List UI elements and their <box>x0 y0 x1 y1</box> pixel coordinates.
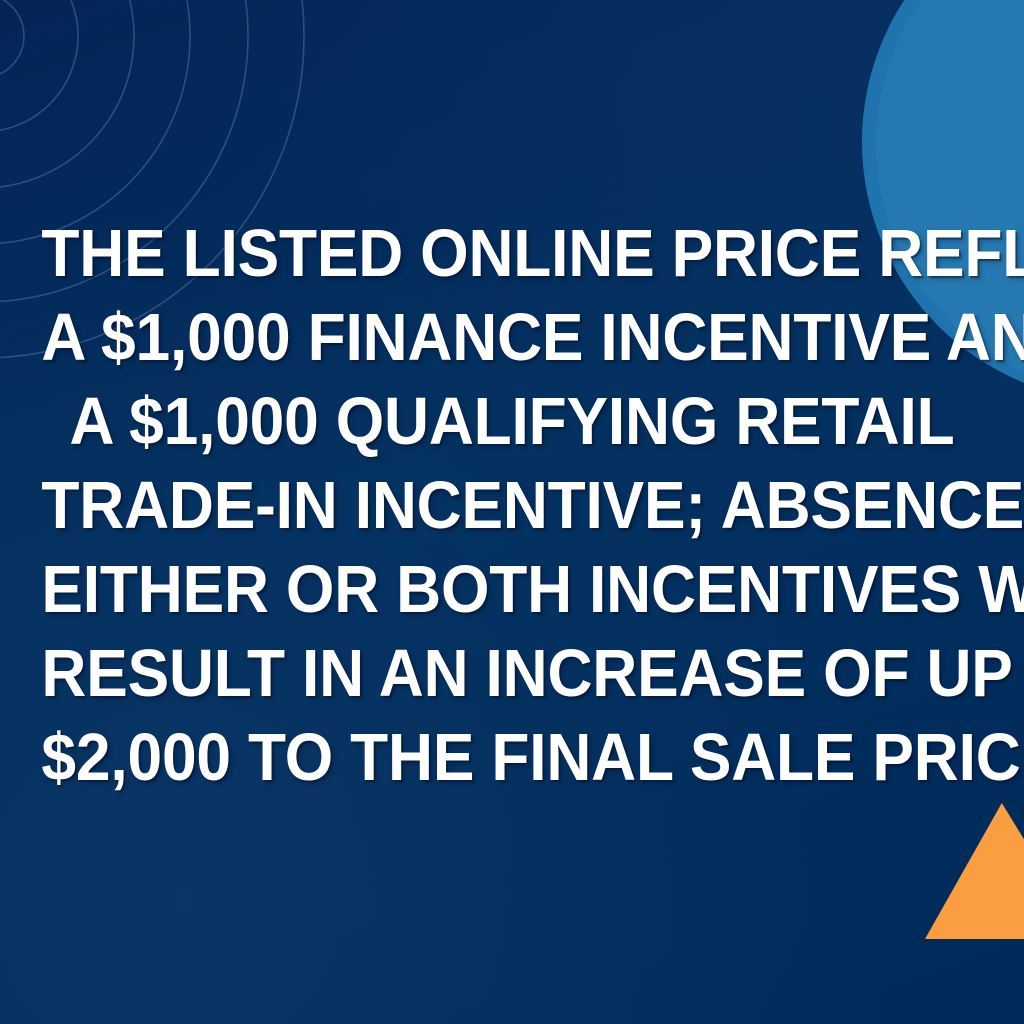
disclaimer-graphic: THE LISTED ONLINE PRICE REFLECTS A $1,00… <box>0 0 1024 1024</box>
headline-line-4: TRADE-IN INCENTIVE; ABSENCE OF <box>41 464 982 548</box>
headline-line-6: RESULT IN AN INCREASE OF UP TO <box>41 632 982 716</box>
headline-line-1: THE LISTED ONLINE PRICE REFLECTS <box>41 212 982 296</box>
headline-line-2: A $1,000 FINANCE INCENTIVE AND <box>41 296 982 380</box>
headline-line-3: A $1,000 QUALIFYING RETAIL <box>41 380 982 464</box>
disclaimer-text-block: THE LISTED ONLINE PRICE REFLECTS A $1,00… <box>0 212 1024 800</box>
headline-line-7: $2,000 TO THE FINAL SALE PRICE. <box>41 716 982 800</box>
headline-line-5: EITHER OR BOTH INCENTIVES WILL <box>41 548 982 632</box>
